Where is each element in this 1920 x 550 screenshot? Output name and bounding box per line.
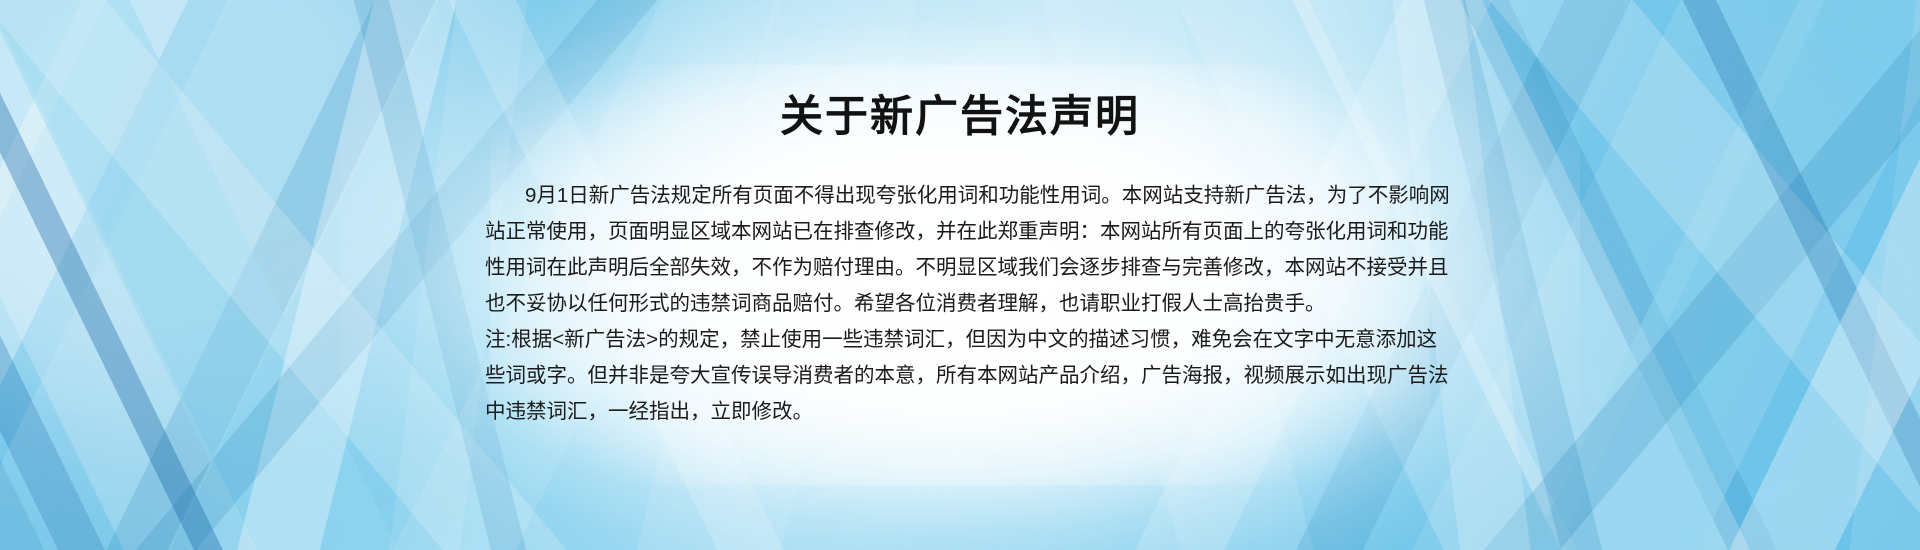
statement-content: 关于新广告法声明 9月1日新广告法规定所有页面不得出现夸张化用词和功能性用词。本… xyxy=(0,0,1920,550)
page-title: 关于新广告法声明 xyxy=(0,92,1920,144)
note-line: 些词或字。但并非是夸大宣传误导消费者的本意，所有本网站产品介绍，广告海报，视频展… xyxy=(485,358,1443,394)
statement-line: 也不妥协以任何形式的违禁词商品赔付。希望各位消费者理解，也请职业打假人士高抬贵手… xyxy=(485,286,1443,322)
statement-body: 9月1日新广告法规定所有页面不得出现夸张化用词和功能性用词。本网站支持新广告法，… xyxy=(485,178,1443,430)
advertising-law-statement-banner: 关于新广告法声明 9月1日新广告法规定所有页面不得出现夸张化用词和功能性用词。本… xyxy=(0,0,1920,550)
statement-line-text: 9月1日新广告法规定所有页面不得出现夸张化用词和功能性用词。本网站支持新广告法，… xyxy=(525,184,1450,207)
note-line: 中违禁词汇，一经指出，立即修改。 xyxy=(485,394,1443,430)
statement-line: 站正常使用，页面明显区域本网站已在排查修改，并在此郑重声明：本网站所有页面上的夸… xyxy=(485,214,1443,250)
note-line: 注:根据<新广告法>的规定，禁止使用一些违禁词汇，但因为中文的描述习惯，难免会在… xyxy=(485,322,1443,358)
paragraph-main-statement: 9月1日新广告法规定所有页面不得出现夸张化用词和功能性用词。本网站支持新广告法，… xyxy=(485,178,1443,322)
paragraph-note-statement: 注:根据<新广告法>的规定，禁止使用一些违禁词汇，但因为中文的描述习惯，难免会在… xyxy=(485,322,1443,430)
statement-line: 9月1日新广告法规定所有页面不得出现夸张化用词和功能性用词。本网站支持新广告法，… xyxy=(485,178,1443,214)
statement-line: 性用词在此声明后全部失效，不作为赔付理由。不明显区域我们会逐步排查与完善修改，本… xyxy=(485,250,1443,286)
